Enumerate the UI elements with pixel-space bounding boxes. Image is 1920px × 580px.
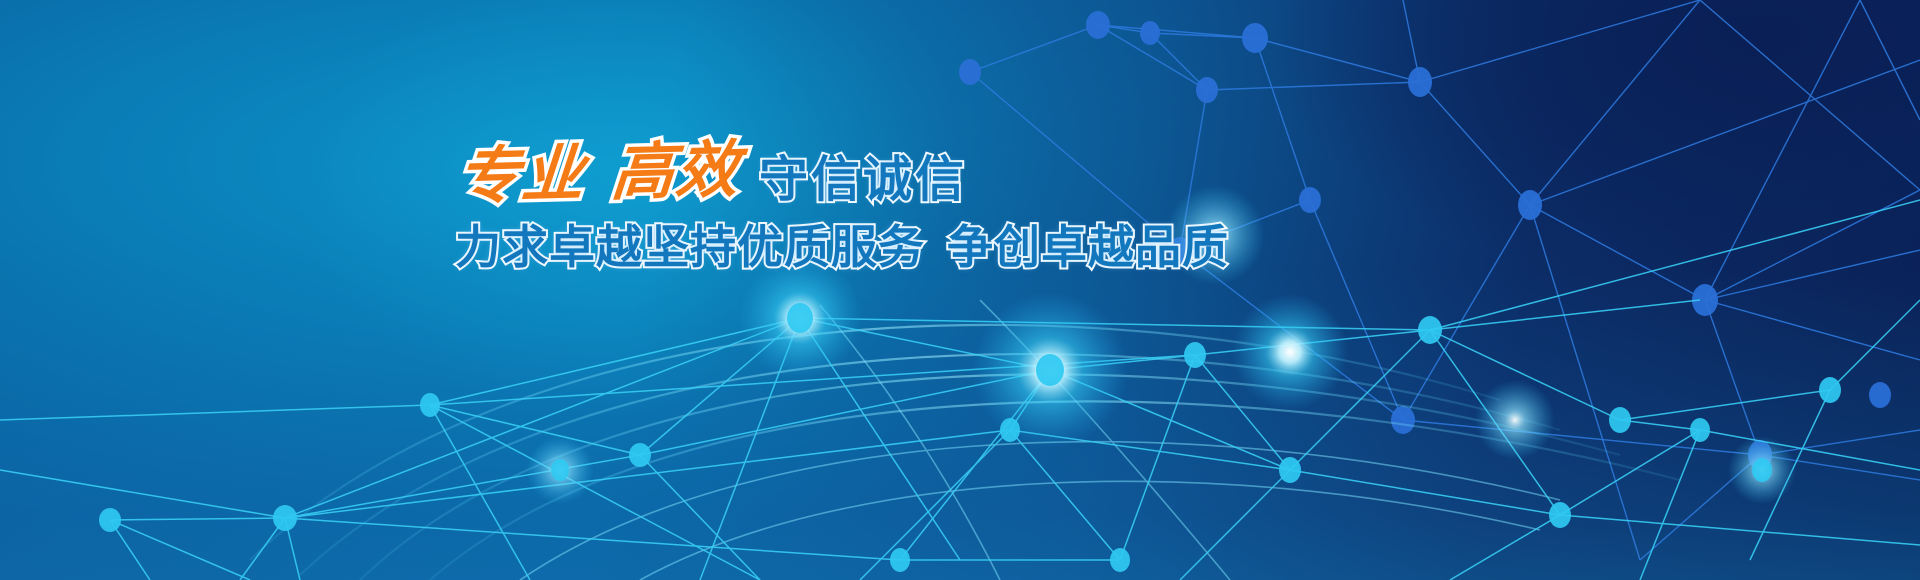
headline-accent: 专业高效 — [455, 139, 743, 208]
subline-left: 力求卓越坚持优质服务 — [455, 220, 925, 274]
headline-accent-part-2: 高效 — [609, 133, 743, 209]
headline-accent-spacer — [584, 194, 610, 195]
headline-accent-part-1: 专业 — [455, 137, 589, 213]
headline-outline-text: 守信诚信 — [759, 155, 967, 208]
subline-right: 争创卓越品质 — [947, 220, 1229, 274]
banner-copy: 专业高效 守信诚信 力求卓越坚持优质服务争创卓越品质 — [455, 130, 1155, 270]
hero-banner: 专业高效 守信诚信 力求卓越坚持优质服务争创卓越品质 — [0, 0, 1920, 580]
headline-line-2: 力求卓越坚持优质服务争创卓越品质 — [455, 224, 1155, 270]
headline-line-1: 专业高效 守信诚信 — [455, 130, 1155, 208]
network-lines-cyan — [0, 0, 1920, 580]
